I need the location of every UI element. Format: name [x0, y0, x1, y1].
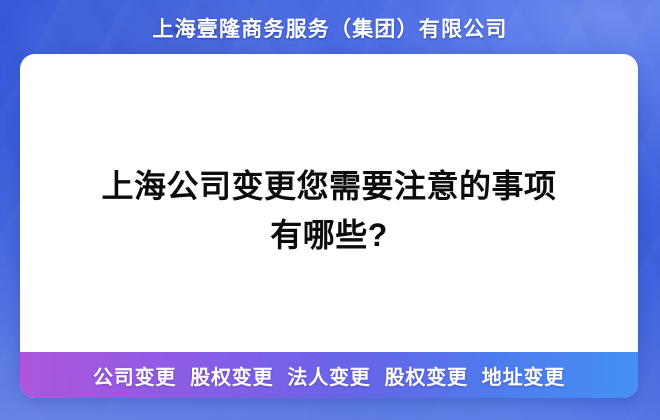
tag-list: 公司变更 股权变更 法人变更 股权变更 地址变更 [93, 361, 565, 390]
header-bar: 上海壹隆商务服务（集团）有限公司 [0, 11, 660, 45]
headline-line-2: 有哪些? [101, 211, 556, 260]
poster-image: 上海壹隆商务服务（集团）有限公司 上海公司变更您需要注意的事项 有哪些? 公司变… [0, 0, 660, 420]
tag-item-company-change[interactable]: 公司变更 [93, 361, 176, 390]
headline-line-1: 上海公司变更您需要注意的事项 [101, 162, 556, 211]
company-name-title: 上海壹隆商务服务（集团）有限公司 [152, 13, 507, 43]
tag-item-equity-change-2[interactable]: 股权变更 [385, 361, 468, 390]
content-card: 上海公司变更您需要注意的事项 有哪些? 公司变更 股权变更 法人变更 股权变更 … [20, 54, 638, 398]
tag-item-legal-person-change[interactable]: 法人变更 [287, 361, 370, 390]
tag-item-address-change[interactable]: 地址变更 [482, 361, 565, 390]
tag-item-equity-change[interactable]: 股权变更 [190, 361, 273, 390]
page-title: 上海公司变更您需要注意的事项 有哪些? [101, 162, 556, 259]
tag-bar: 公司变更 股权变更 法人变更 股权变更 地址变更 [20, 352, 638, 398]
card-body: 上海公司变更您需要注意的事项 有哪些? [20, 54, 638, 352]
